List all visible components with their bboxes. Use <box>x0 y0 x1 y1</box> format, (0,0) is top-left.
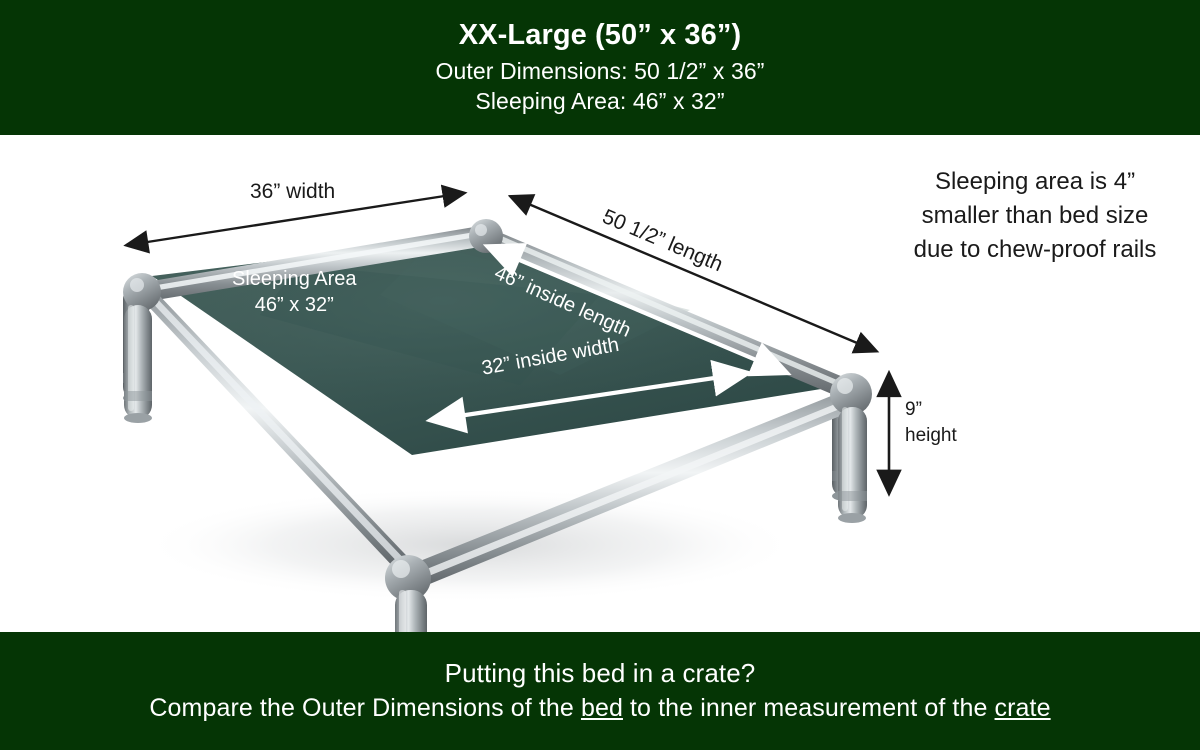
outer-width-label: 36” width <box>250 180 335 204</box>
note-line-1: Sleeping area is 4” <box>876 165 1194 199</box>
note-line-3: due to chew-proof rails <box>876 233 1194 267</box>
bed-leg-left <box>124 305 152 423</box>
crate-question-text: Putting this bed in a crate? <box>445 656 756 691</box>
chew-proof-rails-note: Sleeping area is 4” smaller than bed siz… <box>876 165 1194 267</box>
footer-banner: Putting this bed in a crate? Compare the… <box>0 632 1200 750</box>
bed-corner-back <box>469 219 503 253</box>
height-value: 9” <box>905 397 957 423</box>
crate-compare-text: Compare the Outer Dimensions of the bed … <box>149 691 1050 726</box>
compare-text-part2: to the inner measurement of the <box>623 694 995 722</box>
compare-bed-word: bed <box>581 694 623 722</box>
outer-dimensions-text: Outer Dimensions: 50 1/2” x 36” <box>435 56 764 87</box>
bed-corner-left <box>123 273 161 311</box>
height-callout: 9” height <box>905 397 957 448</box>
compare-crate-word: crate <box>995 694 1051 722</box>
bed-leg-right <box>838 407 867 523</box>
header-banner: XX-Large (50” x 36”) Outer Dimensions: 5… <box>0 0 1200 135</box>
note-line-2: smaller than bed size <box>876 199 1194 233</box>
bed-leg-front-left <box>395 590 427 632</box>
sleeping-area-callout-title: Sleeping Area <box>232 266 357 292</box>
sleeping-area-callout-dims: 46” x 32” <box>232 292 357 318</box>
compare-text-part1: Compare the Outer Dimensions of the <box>149 694 581 722</box>
sleeping-area-text: Sleeping Area: 46” x 32” <box>475 86 724 117</box>
infographic-page: XX-Large (50” x 36”) Outer Dimensions: 5… <box>0 0 1200 750</box>
product-size-title: XX-Large (50” x 36”) <box>459 18 741 52</box>
bed-diagram-area: 36” width 50 1/2” length 46” inside leng… <box>0 135 1200 632</box>
height-word: height <box>905 423 957 449</box>
sleeping-area-callout: Sleeping Area 46” x 32” <box>232 266 357 318</box>
